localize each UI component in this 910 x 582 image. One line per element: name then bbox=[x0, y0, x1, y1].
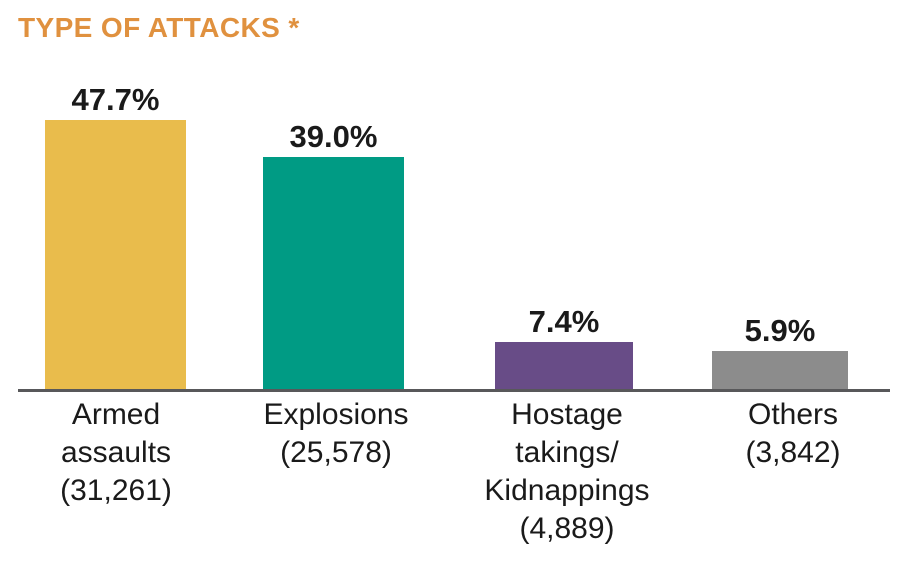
category-label-explosions: Explosions (25,578) bbox=[228, 396, 444, 472]
bar-value-hostage-takings-kidnappings: 7.4% bbox=[495, 305, 633, 339]
bar-group-others: 5.9% bbox=[712, 351, 848, 392]
bar-hostage-takings-kidnappings[interactable] bbox=[495, 342, 633, 392]
bar-others[interactable] bbox=[712, 351, 848, 392]
category-label-line: Explosions bbox=[228, 396, 444, 434]
category-label-line: assaults bbox=[5, 434, 227, 472]
bar-group-armed-assaults: 47.7% bbox=[45, 120, 186, 392]
bar-value-explosions: 39.0% bbox=[263, 120, 404, 154]
bar-armed-assaults[interactable] bbox=[45, 120, 186, 392]
category-label-line: (31,261) bbox=[5, 472, 227, 510]
category-label-armed-assaults: Armed assaults (31,261) bbox=[5, 396, 227, 510]
category-label-line: (3,842) bbox=[690, 434, 896, 472]
x-axis-category-labels: Armed assaults (31,261) Explosions (25,5… bbox=[0, 396, 910, 582]
chart-container: TYPE OF ATTACKS * 47.7% 39.0% 7.4% 5.9% … bbox=[0, 0, 910, 582]
x-axis-line bbox=[18, 389, 890, 392]
category-label-line: Kidnappings bbox=[450, 472, 684, 510]
bar-value-armed-assaults: 47.7% bbox=[45, 83, 186, 117]
bar-group-hostage-takings-kidnappings: 7.4% bbox=[495, 342, 633, 392]
bar-group-explosions: 39.0% bbox=[263, 157, 404, 392]
bar-explosions[interactable] bbox=[263, 157, 404, 392]
category-label-others: Others (3,842) bbox=[690, 396, 896, 472]
category-label-line: (4,889) bbox=[450, 510, 684, 548]
bar-value-others: 5.9% bbox=[712, 314, 848, 348]
category-label-line: Others bbox=[690, 396, 896, 434]
category-label-line: takings/ bbox=[450, 434, 684, 472]
category-label-hostage-takings-kidnappings: Hostage takings/ Kidnappings (4,889) bbox=[450, 396, 684, 548]
category-label-line: Hostage bbox=[450, 396, 684, 434]
category-label-line: (25,578) bbox=[228, 434, 444, 472]
category-label-line: Armed bbox=[5, 396, 227, 434]
plot-area: 47.7% 39.0% 7.4% 5.9% bbox=[0, 0, 910, 392]
